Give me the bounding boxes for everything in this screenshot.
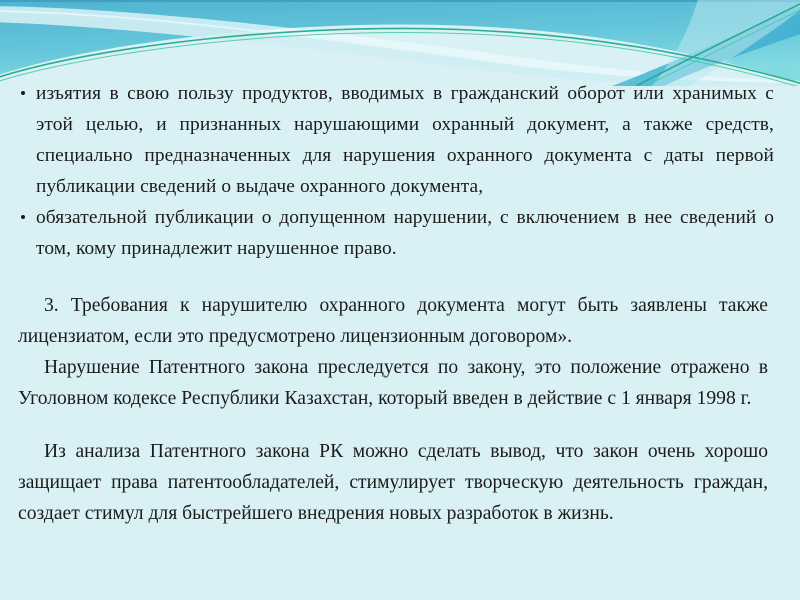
header-top-hairline: [0, 0, 800, 2]
slide-body: изъятия в свою пользу продуктов, вводимы…: [0, 78, 800, 600]
decorative-wave-header: [0, 0, 800, 86]
list-item: изъятия в свою пользу продуктов, вводимы…: [14, 78, 774, 202]
list-item-text: изъятия в свою пользу продуктов, вводимы…: [36, 78, 774, 202]
round-bullet-icon: [21, 91, 25, 95]
wave-graphic: [0, 0, 800, 86]
list-item-text: обязательной публикации о допущенном нар…: [36, 202, 774, 264]
round-bullet-icon: [21, 215, 25, 219]
bullet-list: изъятия в свою пользу продуктов, вводимы…: [14, 78, 774, 264]
spacer: [14, 414, 774, 436]
presentation-slide: изъятия в свою пользу продуктов, вводимы…: [0, 0, 800, 600]
paragraph-criminal-code: Нарушение Патентного закона преследуется…: [14, 352, 774, 414]
spacer: [14, 264, 774, 290]
paragraph-conclusion: Из анализа Патентного закона РК можно сд…: [14, 436, 774, 529]
legal-text-group: 3. Требования к нарушителю охранного док…: [14, 290, 774, 414]
paragraph-clause-3: 3. Требования к нарушителю охранного док…: [14, 290, 774, 352]
list-item: обязательной публикации о допущенном нар…: [14, 202, 774, 264]
